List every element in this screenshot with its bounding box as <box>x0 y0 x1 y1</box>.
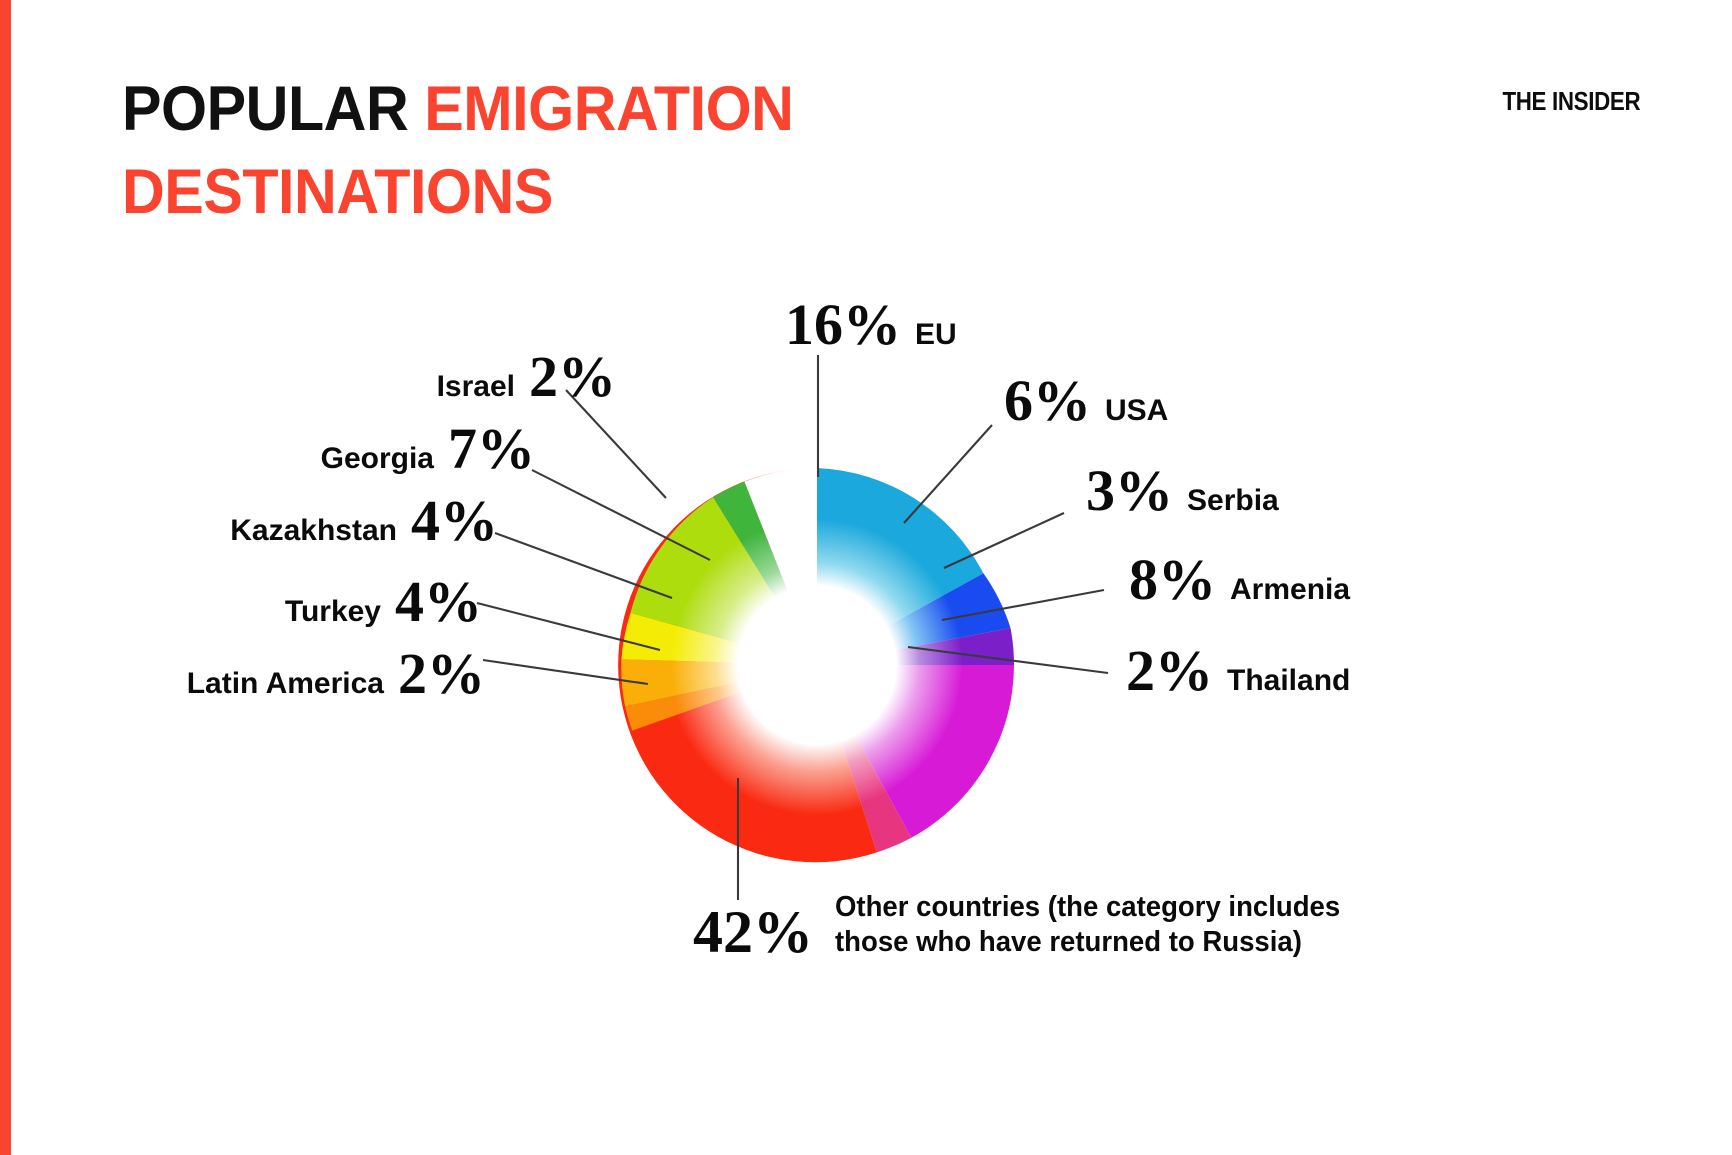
label-serbia-name: Serbia <box>1187 486 1279 516</box>
label-kazakhstan-name: Kazakhstan <box>230 516 397 546</box>
label-other-percent: 42% <box>693 902 813 962</box>
label-other-name: Other countries (the category includes t… <box>835 890 1340 961</box>
label-turkey-percent: 4% <box>395 573 482 631</box>
label-eu-name: EU <box>915 320 957 350</box>
label-turkey-name: Turkey <box>285 597 381 627</box>
label-eu: 16% EU <box>785 296 957 354</box>
donut-slices <box>618 468 1014 862</box>
label-kazakhstan: Kazakhstan 4% <box>228 492 498 550</box>
label-eu-percent: 16% <box>785 296 901 354</box>
label-usa: 6% USA <box>1004 372 1168 430</box>
label-armenia: 8% Armenia <box>1129 551 1350 609</box>
label-other-countries: 42% Other countries (the category includ… <box>693 890 1367 961</box>
label-thailand: 2% Thailand <box>1126 642 1350 700</box>
label-georgia: Georgia 7% <box>345 420 535 478</box>
label-georgia-name: Georgia <box>321 444 434 474</box>
label-georgia-percent: 7% <box>448 420 535 478</box>
label-turkey: Turkey 4% <box>282 573 482 631</box>
label-latin-america: Latin America 2% <box>190 645 485 703</box>
label-israel-percent: 2% <box>529 348 616 406</box>
leader-line-usa <box>904 425 992 523</box>
label-armenia-percent: 8% <box>1129 551 1216 609</box>
label-serbia: 3% Serbia <box>1086 462 1279 520</box>
label-thailand-percent: 2% <box>1126 642 1213 700</box>
label-usa-percent: 6% <box>1004 372 1091 430</box>
leader-line-serbia <box>944 513 1064 568</box>
label-kazakhstan-percent: 4% <box>411 492 498 550</box>
label-latin-america-name: Latin America <box>187 669 384 699</box>
label-latin-america-percent: 2% <box>398 645 485 703</box>
label-thailand-name: Thailand <box>1227 666 1350 696</box>
donut-chart-svg <box>0 0 1732 1155</box>
label-armenia-name: Armenia <box>1230 575 1350 605</box>
label-israel-name: Israel <box>437 372 515 402</box>
donut-hole <box>737 585 897 745</box>
label-israel: Israel 2% <box>466 348 616 406</box>
donut-chart: 16% EU 6% USA 3% Serbia 8% Armenia 2% Th… <box>0 0 1732 1155</box>
label-serbia-percent: 3% <box>1086 462 1173 520</box>
leader-line-georgia <box>532 470 710 560</box>
label-usa-name: USA <box>1105 396 1168 426</box>
